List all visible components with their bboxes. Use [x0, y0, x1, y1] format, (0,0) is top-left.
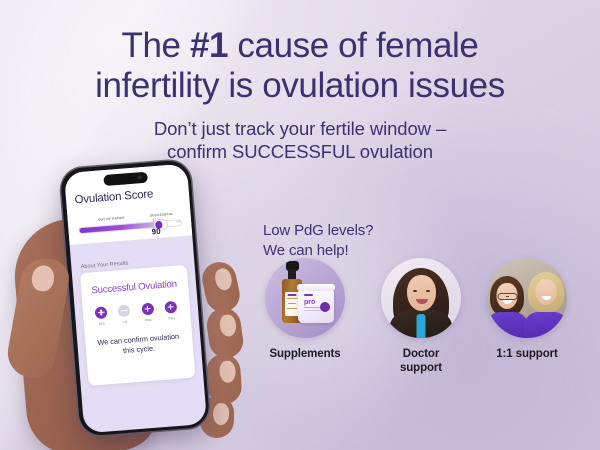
hand-finger [205, 306, 246, 360]
eye [426, 290, 430, 292]
gauge-scale-min: 0 [79, 228, 81, 231]
plus-icon [141, 302, 154, 315]
smile [503, 300, 512, 304]
jar-label-line [304, 310, 321, 311]
card-label: Supplements [258, 347, 352, 361]
headline-line-1: The #1 cause of female [0, 26, 600, 66]
hand-holding-phone: Ovulation Score OUT OF RANGE SUCCESSFUL … [8, 160, 258, 450]
hormone-label: LH [116, 319, 135, 324]
card-label: Doctor support [374, 347, 468, 375]
hormone-item: FSH [161, 300, 181, 320]
hormone-item: LH [114, 304, 134, 324]
card-peer-support[interactable]: 1:1 support [480, 258, 574, 361]
card-supplements[interactable]: pro Supplements [258, 258, 352, 361]
hormone-label: E1G [92, 320, 111, 325]
person-face [407, 275, 436, 311]
result-card: Successful Ovulation E1G LH PdG [79, 264, 195, 385]
result-message: We can confirm ovulation this cycle. [85, 330, 193, 359]
subheadline: Don’t just track your fertile window – c… [0, 117, 600, 164]
card-label: 1:1 support [480, 347, 574, 361]
doctor-photo [381, 258, 461, 338]
person-left [487, 276, 528, 338]
purple-hoodie [524, 312, 567, 338]
gauge-label-successful: SUCCESSFUL [150, 211, 174, 217]
hormone-item: PdG [138, 302, 158, 322]
hand-finger [199, 259, 243, 315]
headline: The #1 cause of female infertility is ov… [0, 26, 600, 105]
about-results-label: About Your Results [81, 260, 129, 270]
purple-hoodie [487, 312, 528, 338]
glasses-icon [497, 293, 517, 300]
person-right [524, 272, 567, 338]
hormone-label: FSH [162, 315, 181, 320]
phone-mockup: Ovulation Score OUT OF RANGE SUCCESSFUL … [60, 159, 211, 436]
smile [416, 299, 428, 304]
plus-icon [95, 306, 108, 319]
phone-screen: Ovulation Score OUT OF RANGE SUCCESSFUL … [63, 163, 206, 433]
jar-product-name: pro [304, 299, 315, 306]
result-title: Successful Ovulation [80, 277, 188, 296]
card-label-line-2: support [374, 361, 468, 375]
brand-mark [288, 294, 297, 296]
plus-icon [164, 300, 177, 313]
label-line [287, 308, 297, 309]
supplements-image: pro [265, 258, 345, 338]
peer-support-photo [487, 258, 567, 338]
help-text: Low PdG levels? We can help! [263, 221, 373, 261]
jar-badge-icon [320, 302, 330, 312]
person-face [497, 283, 518, 309]
headline-emphasis: #1 [190, 26, 228, 65]
label-line [287, 298, 298, 299]
person-face [536, 279, 557, 305]
eye [413, 290, 417, 292]
brand-mark [304, 294, 313, 296]
card-doctor-support[interactable]: Doctor support [374, 258, 468, 375]
hormone-label: PdG [139, 317, 158, 322]
card-label-line-1: Doctor [374, 347, 468, 361]
gauge-scale-max: 100 [176, 220, 181, 223]
help-text-line-1: Low PdG levels? [263, 221, 373, 241]
hormone-item: E1G [91, 305, 111, 325]
jar-lid [297, 284, 335, 291]
hormone-row: E1G LH PdG FSH [82, 299, 190, 326]
label-line [288, 303, 296, 304]
card-label-line-1: Supplements [269, 348, 340, 360]
smile [542, 296, 551, 300]
gauge-value: 90 [151, 226, 161, 236]
headline-line-2: infertility is ovulation issues [0, 66, 600, 106]
supplement-jar: pro [298, 289, 334, 323]
lanyard [417, 314, 426, 338]
minus-icon [118, 304, 131, 317]
headline-line-1-after: cause of female [228, 26, 478, 65]
headline-line-1-before: The [122, 26, 190, 65]
card-label-line-1: 1:1 support [496, 348, 558, 360]
gauge-label-out-of-range: OUT OF RANGE [98, 215, 125, 221]
subheadline-line-1: Don’t just track your fertile window – [0, 117, 600, 140]
